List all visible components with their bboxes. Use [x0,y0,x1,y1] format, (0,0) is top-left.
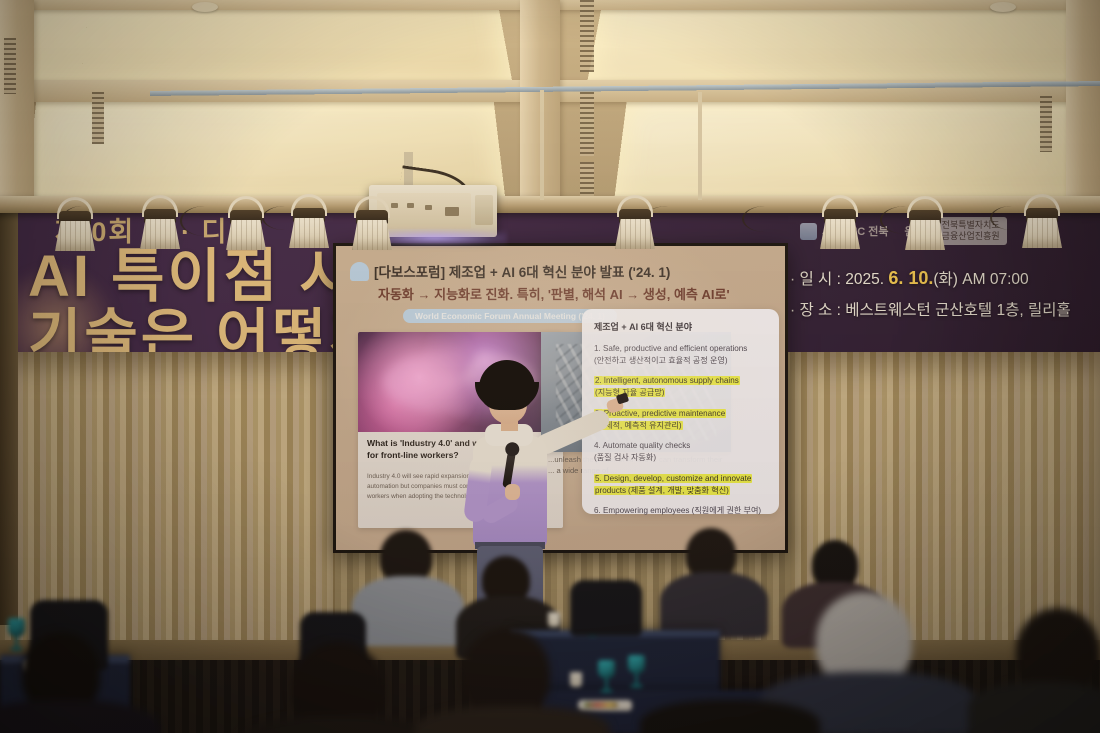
attendee-shoulders [968,682,1100,733]
ceiling-beam [0,0,34,212]
panel-item: 3.Proactive, predictive maintenance (선제적… [594,408,767,431]
attendee-shoulders [640,700,820,733]
panel-item-en: Proactive, predictive maintenance [603,409,726,418]
panel-item-ko: (품질 검사 자동화) [594,452,767,464]
cable [180,206,230,236]
teal-goblet [8,618,25,652]
smoke-detector-icon [990,2,1016,12]
event-info-block: · 일 시 : 2025. 6. 10.(화) AM 07:00 · 장 소 :… [790,261,1071,326]
projector-port [391,203,398,208]
presenter-hair [479,360,535,410]
stage-spotlight [226,204,266,250]
attendee-shoulders [660,572,768,638]
ceiling-light-panel [0,0,514,91]
slide-subtitle: 자동화 → 지능화로 진화. 특히, '판별, 해석 AI → 생성, 예측 A… [378,284,730,303]
teal-goblet [628,655,645,689]
event-date-label: · 일 시 : [790,271,841,288]
panel-item-en: Safe, productive and efficient operation… [603,344,747,353]
sponsor-card-line2: 금융산업진흥원 [942,231,1000,241]
stage-spotlight [615,203,655,249]
panel-item-en: Intelligent, autonomous supply chains [603,376,740,385]
smoke-detector-icon [192,2,218,12]
truss-drop-pole [698,92,702,200]
stage-spotlight [289,202,329,248]
slide-title: [다보스포럼] 제조업 + AI 6대 혁신 분야 발표 ('24. 1) [374,261,670,281]
banner-headline-line2: 기술은 어떻게 [28,289,385,355]
projector-port [407,203,414,208]
projector-port [445,207,459,216]
panel-item: 4. Automate quality checks (품질 검사 자동화) [594,440,767,463]
food-plate [578,700,632,711]
event-date-suffix: (화) AM 07:00 [933,271,1028,288]
panel-item: 6. Empowering employees (직원에게 권한 부여) [594,505,767,517]
air-vent [580,92,594,156]
event-venue-row: · 장 소 : 베스트웨스턴 군산호텔 1층, 릴리홀 [790,296,1071,326]
stage-spotlight [140,203,180,249]
chair [570,580,642,636]
presenter-left-hand [505,484,520,500]
panel-item-ko: (제품 설계, 개발, 맞춤화 혁신) [627,486,730,495]
stage-spotlight [352,204,392,250]
panel-item-number: 1. [594,344,601,353]
air-vent [92,92,104,144]
conference-photo-scene: 제 0회 금 · 디 제 AI 특이점 시대 기술은 어떻게 시 JIC 전북 … [0,0,1100,733]
event-venue-value: 베스트웨스턴 군산호텔 1층, 릴리홀 [845,302,1071,319]
event-date-highlight: 6. 10. [888,268,933,288]
projector-lens-housing [475,195,493,225]
ceiling-beam [1066,0,1100,212]
air-vent [580,0,594,72]
cable [742,206,788,232]
attendee-head [462,628,550,718]
paper-cup [570,672,582,687]
stage-spotlight [820,203,860,249]
panel-item: 5.Design, develop, customize and innovat… [594,473,767,496]
ceiling-light-panel [612,98,1100,212]
paper-cup [548,612,560,627]
air-vent [4,38,16,94]
event-venue-label: · 장 소 : [790,302,841,319]
attendee-shoulders [352,576,464,646]
stage-spotlight [1022,202,1062,248]
teal-goblet [598,660,615,694]
event-datetime-row: · 일 시 : 2025. 6. 10.(화) AM 07:00 [790,261,1071,296]
ceiling-light-panel [586,0,1100,91]
slide-accent-shape-icon [350,262,369,281]
stage-spotlight [55,205,95,251]
projector-port [425,205,432,210]
panel-item-en: Empowering employees [603,506,689,515]
panel-item-ko: (안전하고 생산적이고 효율적 공정 운영) [594,355,767,367]
sponsor-mark-icon [800,223,817,240]
stage-spotlight [905,204,945,250]
panel-item: 1. Safe, productive and efficient operat… [594,343,767,366]
panel-heading: 제조업 + AI 6대 혁신 분야 [594,320,767,333]
panel-item-ko: (직원에게 권한 부여) [692,506,761,515]
air-vent [1040,96,1052,152]
panel-item-en: Automate quality checks [603,441,691,450]
ceiling [0,0,1100,212]
event-date-prefix: 2025. [845,271,884,288]
wall-edge [0,205,18,625]
truss-drop-pole [540,90,544,200]
